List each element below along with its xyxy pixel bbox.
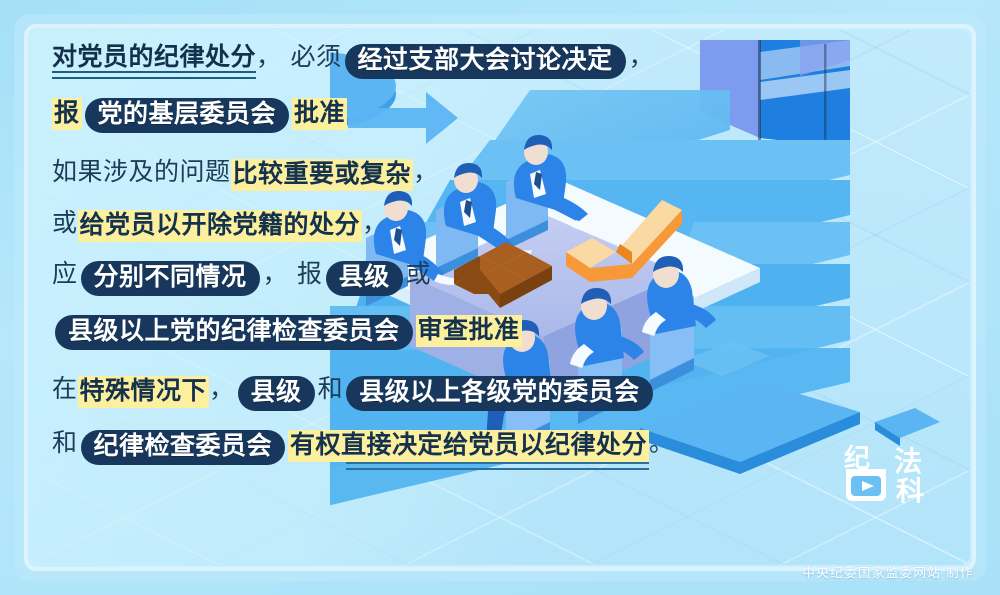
segment-highlight: 给党员以开除党籍的处分 [78,210,363,242]
segment-plain: 在 [52,376,78,403]
statute-text-block: 对党员的纪律处分，必须经过支部大会讨论决定， 报党的基层委员会批准 如果涉及的问… [52,44,692,491]
text-line: 报党的基层委员会批准 [52,98,692,133]
segment-pill: 县级以上党的纪律检查委员会 [55,315,413,350]
text-line: 应分别不同情况，报县级或 [52,261,692,296]
segment-plain: 必须 [291,44,342,71]
paragraph-1: 对党员的纪律处分，必须经过支部大会讨论决定， 报党的基层委员会批准 [52,44,692,133]
logo-char-fa: 法 [894,446,922,477]
segment-highlight: 报 [52,98,82,130]
segment-plain: 和 [318,376,344,403]
text-line: 和纪律检查委员会有权直接决定给党员以纪律处分。 [52,430,692,465]
segment-highlight: 批准 [292,98,347,130]
segment-plain: 应 [52,261,78,288]
segment-pill: 县级 [238,376,315,411]
segment-pill: 分别不同情况 [81,261,260,296]
text-line: 对党员的纪律处分，必须经过支部大会讨论决定， [52,44,692,79]
text-line: 或给党员以开除党籍的处分， [52,210,692,242]
logo-char-bai-play [846,469,886,501]
logo-char-ke: 科 [896,476,924,503]
brand-logo-jifabaike: 纪 法 科 [842,441,946,503]
text-line: 如果涉及的问题比较重要或复杂， [52,159,692,191]
segment-highlight: 特殊情况下 [78,376,210,408]
segment-plain: ， [362,210,388,237]
segment-highlight-underline: 有权直接决定给党员以纪律处分 [288,430,649,462]
infographic-canvas: 对党员的纪律处分，必须经过支部大会讨论决定， 报党的基层委员会批准 如果涉及的问… [0,0,1000,595]
text-line: 在特殊情况下，县级和县级以上各级党的委员会 [52,376,692,411]
segment-pill: 党的基层委员会 [85,98,290,133]
segment-plain: 或 [52,210,78,237]
segment-plain: ， [209,376,235,403]
segment-underline: 对党员的纪律处分 [52,45,256,70]
segment-plain: 和 [52,430,78,457]
content-panel: 对党员的纪律处分，必须经过支部大会讨论决定， 报党的基层委员会批准 如果涉及的问… [30,30,970,565]
segment-pill: 县级 [326,261,403,296]
segment-plain: ， [629,44,655,71]
paragraph-2: 如果涉及的问题比较重要或复杂， 或给党员以开除党籍的处分， 应分别不同情况，报县… [52,159,692,350]
segment-plain: 报 [297,261,323,288]
segment-plain: ， [413,159,439,186]
segment-pill: 县级以上各级党的委员会 [346,376,653,411]
text-line: 县级以上党的纪律检查委员会审查批准 [52,315,692,350]
segment-plain: 或 [406,261,432,288]
segment-highlight: 比较重要或复杂 [231,159,414,191]
segment-plain: 如果涉及的问题 [52,159,231,186]
logo-char-ji: 纪 [844,443,870,473]
segment-plain: ， [263,261,289,288]
segment-plain: ， [256,44,282,71]
segment-pill: 经过支部大会讨论决定 [345,44,626,79]
footer-credit: 中央纪委国家监委网站 制作 [802,562,974,581]
segment-highlight: 审查批准 [416,315,522,347]
segment-plain: 。 [649,430,675,457]
segment-pill: 纪律检查委员会 [81,430,286,465]
paragraph-3: 在特殊情况下，县级和县级以上各级党的委员会 和纪律检查委员会有权直接决定给党员以… [52,376,692,465]
